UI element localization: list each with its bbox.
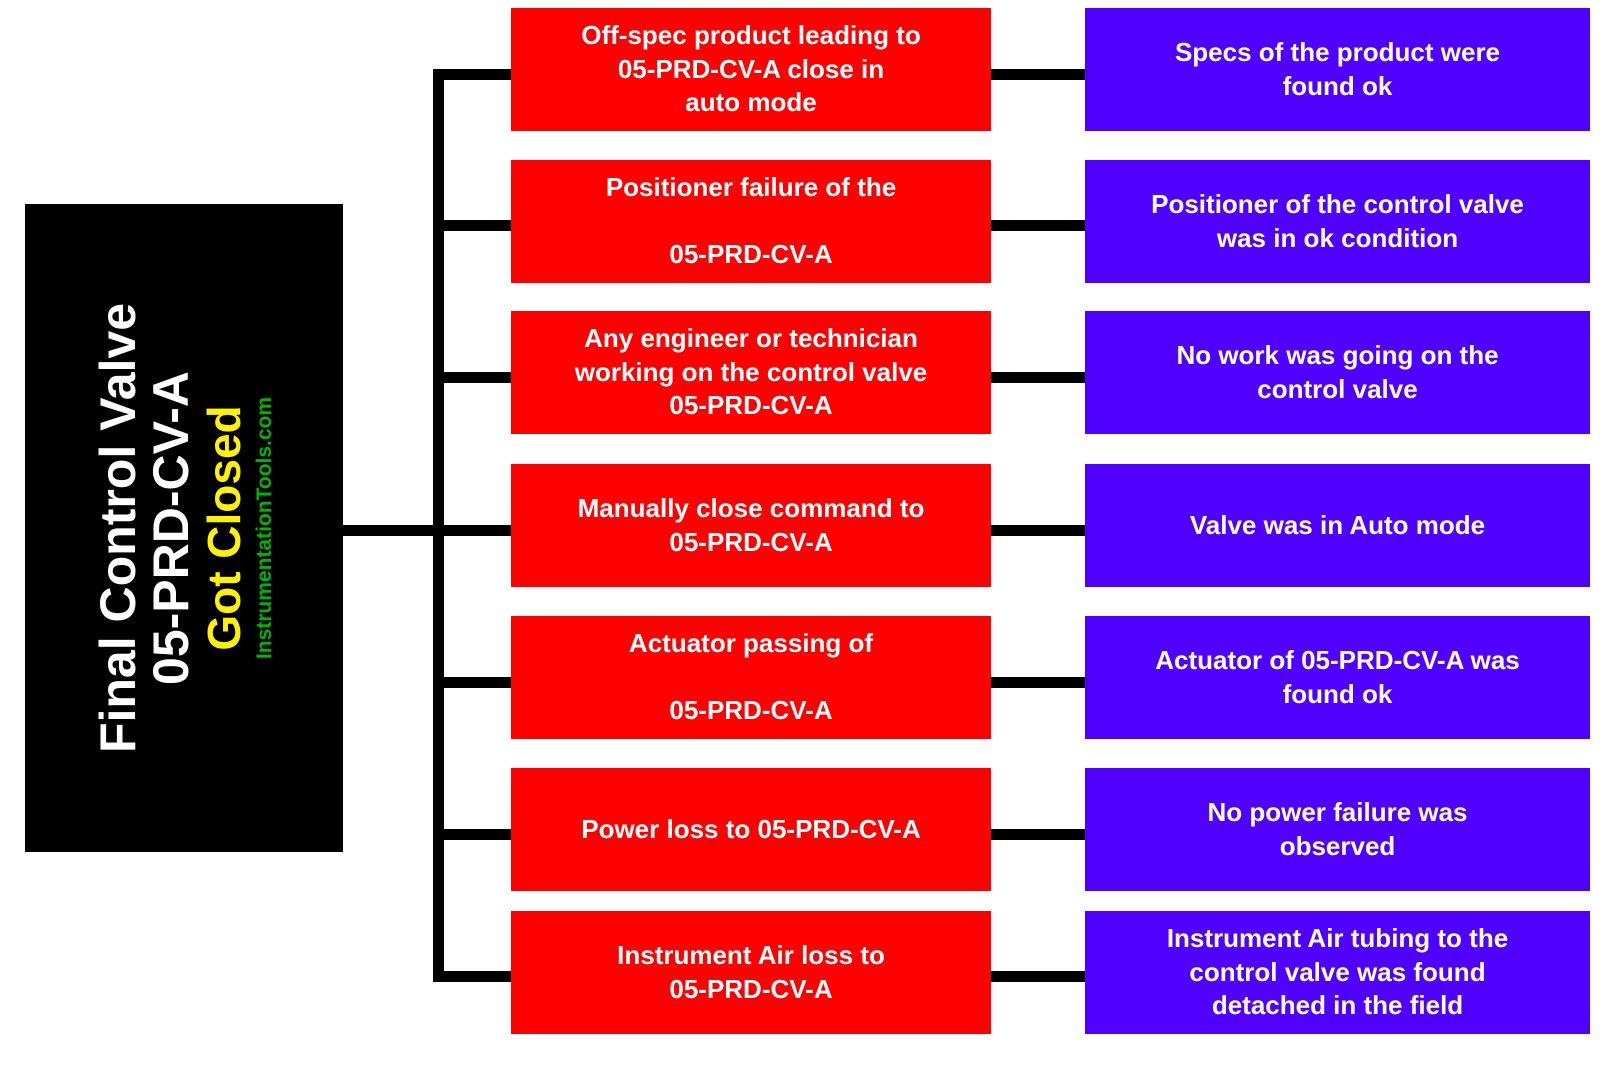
cause-node-7[interactable]: Instrument Air loss to 05-PRD-CV-A [511,911,991,1034]
root-cause-node[interactable]: Final Control Valve 05-PRD-CV-A Got Clos… [25,204,343,852]
finding-node-3[interactable]: No work was going on the control valve [1085,311,1590,434]
cause-node-4[interactable]: Manually close command to 05-PRD-CV-A [511,464,991,587]
connector-branch-4 [433,525,515,536]
cause-node-2-label: Positioner failure of the 05-PRD-CV-A [606,171,896,272]
cause-node-5[interactable]: Actuator passing of 05-PRD-CV-A [511,616,991,739]
finding-node-7[interactable]: Instrument Air tubing to the control val… [1085,911,1590,1034]
finding-node-2-label: Positioner of the control valve was in o… [1151,188,1524,256]
root-node-line-1: Final Control Valve [93,303,144,753]
finding-node-5[interactable]: Actuator of 05-PRD-CV-A was found ok [1085,616,1590,739]
cause-node-4-label: Manually close command to 05-PRD-CV-A [578,492,925,560]
finding-node-1-label: Specs of the product were found ok [1175,36,1500,104]
finding-node-3-label: No work was going on the control valve [1176,339,1498,407]
connector-branch-5 [433,677,515,688]
finding-node-4[interactable]: Valve was in Auto mode [1085,464,1590,587]
cause-node-3-label: Any engineer or technician working on th… [575,322,928,423]
cause-node-7-label: Instrument Air loss to 05-PRD-CV-A [617,939,885,1007]
finding-node-7-label: Instrument Air tubing to the control val… [1167,922,1508,1023]
cause-node-6-label: Power loss to 05-PRD-CV-A [581,813,921,847]
connector-branch-1 [433,69,515,80]
diagram-canvas: Final Control Valve 05-PRD-CV-A Got Clos… [0,0,1620,1084]
finding-node-4-label: Valve was in Auto mode [1190,509,1485,543]
connector-root-stem [343,525,443,536]
cause-node-3[interactable]: Any engineer or technician working on th… [511,311,991,434]
connector-branch-2 [433,220,515,231]
finding-node-5-label: Actuator of 05-PRD-CV-A was found ok [1155,644,1520,712]
root-node-line-2: 05-PRD-CV-A [146,371,197,685]
cause-node-1-label: Off-spec product leading to 05-PRD-CV-A … [581,19,920,120]
finding-node-6[interactable]: No power failure was observed [1085,768,1590,891]
connector-branch-7 [433,971,515,982]
finding-node-6-label: No power failure was observed [1207,796,1467,864]
connector-branch-6 [433,829,515,840]
cause-node-2[interactable]: Positioner failure of the 05-PRD-CV-A [511,160,991,283]
root-node-rotated-text: Final Control Valve 05-PRD-CV-A Got Clos… [25,303,343,753]
cause-node-6[interactable]: Power loss to 05-PRD-CV-A [511,768,991,891]
finding-node-1[interactable]: Specs of the product were found ok [1085,8,1590,131]
connector-branch-3 [433,372,515,383]
finding-node-2[interactable]: Positioner of the control valve was in o… [1085,160,1590,283]
root-node-status-label: Got Closed [201,405,248,650]
cause-node-5-label: Actuator passing of 05-PRD-CV-A [629,627,873,728]
watermark-label: InstrumentationTools.com [254,397,275,659]
cause-node-1[interactable]: Off-spec product leading to 05-PRD-CV-A … [511,8,991,131]
